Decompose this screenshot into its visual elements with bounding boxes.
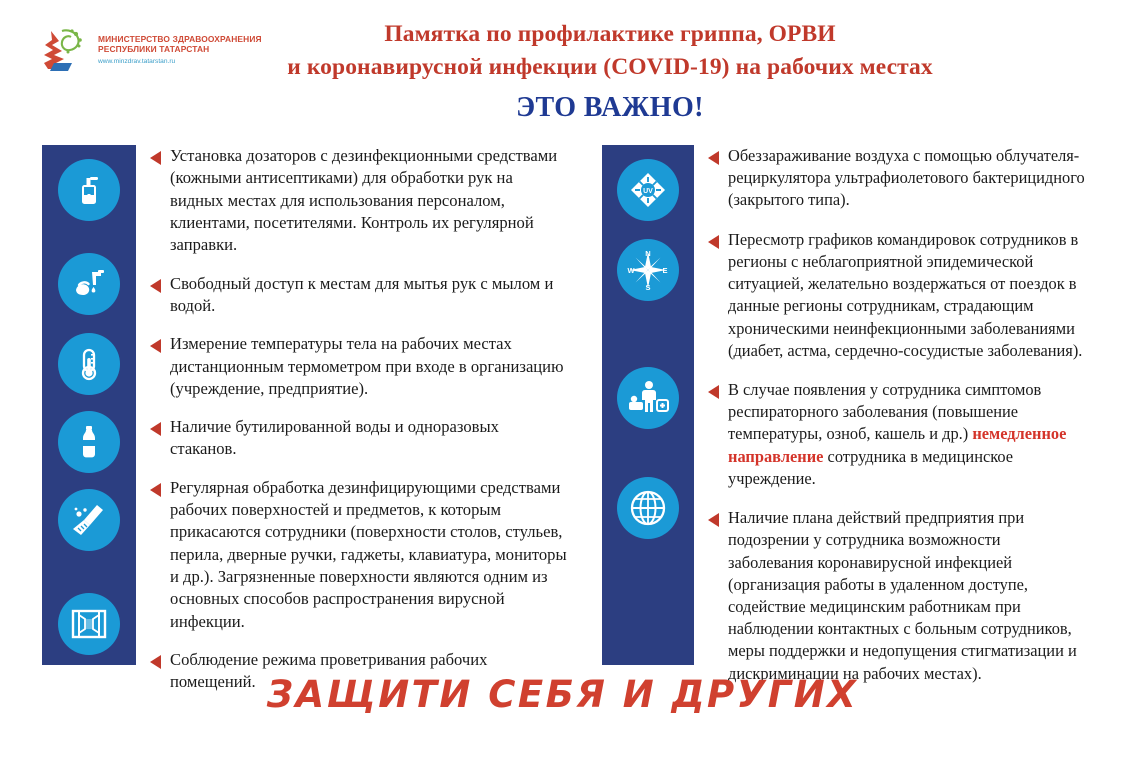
triangle-bullet-icon xyxy=(150,279,161,293)
list-item: Регулярная обработка дезинфицирующими ср… xyxy=(150,477,569,633)
poster-title-block: Памятка по профилактике гриппа, ОРВИ и к… xyxy=(270,18,950,124)
list-item-text: Пересмотр графиков командировок сотрудни… xyxy=(728,229,1087,362)
thermometer-icon xyxy=(58,333,120,395)
handwashing-faucet-icon xyxy=(58,253,120,315)
list-item: В случае появления у сотрудника симптомо… xyxy=(708,379,1087,490)
right-icon-bar: UV xyxy=(602,145,694,665)
footer-slogan: ЗАЩИТИ СЕБЯ И ДРУГИХ xyxy=(0,673,1125,716)
triangle-bullet-icon xyxy=(150,422,161,436)
right-column: UV xyxy=(602,145,1087,710)
page-title-line-1: Памятка по профилактике гриппа, ОРВИ xyxy=(270,18,950,51)
list-item: Установка дозаторов с дезинфекционными с… xyxy=(150,145,569,257)
water-bottle-icon xyxy=(58,411,120,473)
open-window-ventilation-icon xyxy=(58,593,120,655)
list-item-text: Обеззараживание воздуха с помощью облуча… xyxy=(728,145,1087,212)
globe-icon xyxy=(617,477,679,539)
ministry-logo: МИНИСТЕРСТВО ЗДРАВООХРАНЕНИЯ РЕСПУБЛИКИ … xyxy=(38,22,268,78)
logo-website-url: www.minzdrav.tatarstan.ru xyxy=(98,58,262,66)
uv-lamp-icon: UV xyxy=(617,159,679,221)
sanitizer-dispenser-icon xyxy=(58,159,120,221)
list-item-text: Наличие плана действий предприятия при п… xyxy=(728,507,1087,685)
list-item-text: Измерение температуры тела на рабочих ме… xyxy=(170,333,569,400)
compass-icon: N S W E xyxy=(617,239,679,301)
triangle-bullet-icon xyxy=(150,483,161,497)
tatarstan-health-ministry-logo-icon xyxy=(38,25,90,75)
list-item-text: Регулярная обработка дезинфицирующими ср… xyxy=(170,477,569,633)
left-column-items: Установка дозаторов с дезинфекционными с… xyxy=(136,145,569,710)
list-item: Наличие плана действий предприятия при п… xyxy=(708,507,1087,685)
list-item: Обеззараживание воздуха с помощью облуча… xyxy=(708,145,1087,212)
broom-cleaning-icon xyxy=(58,489,120,551)
page-title-line-2: и коронавирусной инфекции (COVID-19) на … xyxy=(270,51,950,84)
left-icon-bar xyxy=(42,145,136,665)
list-item-text: Свободный доступ к местам для мытья рук … xyxy=(170,273,569,318)
logo-ministry-line-1: МИНИСТЕРСТВО ЗДРАВООХРАНЕНИЯ xyxy=(98,34,262,44)
content-columns: Установка дозаторов с дезинфекционными с… xyxy=(42,145,1087,710)
svg-text:N: N xyxy=(645,249,650,258)
left-column: Установка дозаторов с дезинфекционными с… xyxy=(42,145,569,710)
list-item-text-mixed: В случае появления у сотрудника симптомо… xyxy=(728,379,1087,490)
triangle-bullet-icon xyxy=(708,513,719,527)
right-column-items: Обеззараживание воздуха с помощью облуча… xyxy=(694,145,1087,702)
poster-page: МИНИСТЕРСТВО ЗДРАВООХРАНЕНИЯ РЕСПУБЛИКИ … xyxy=(0,0,1125,770)
svg-text:W: W xyxy=(627,266,635,275)
list-item: Наличие бутилированной воды и одноразовы… xyxy=(150,416,569,461)
triangle-bullet-icon xyxy=(708,151,719,165)
list-item: Пересмотр графиков командировок сотрудни… xyxy=(708,229,1087,362)
svg-text:S: S xyxy=(645,283,650,291)
medical-care-patient-icon xyxy=(617,367,679,429)
triangle-bullet-icon xyxy=(708,235,719,249)
list-item-text: Установка дозаторов с дезинфекционными с… xyxy=(170,145,569,257)
list-item: Измерение температуры тела на рабочих ме… xyxy=(150,333,569,400)
triangle-bullet-icon xyxy=(150,151,161,165)
logo-ministry-line-2: РЕСПУБЛИКИ ТАТАРСТАН xyxy=(98,44,262,54)
list-item: Свободный доступ к местам для мытья рук … xyxy=(150,273,569,318)
svg-text:E: E xyxy=(662,266,667,275)
triangle-bullet-icon xyxy=(708,385,719,399)
page-subtitle-important: ЭТО ВАЖНО! xyxy=(270,92,950,124)
list-item-text: Наличие бутилированной воды и одноразовы… xyxy=(170,416,569,461)
triangle-bullet-icon xyxy=(150,655,161,669)
svg-text:UV: UV xyxy=(643,188,653,195)
triangle-bullet-icon xyxy=(150,339,161,353)
